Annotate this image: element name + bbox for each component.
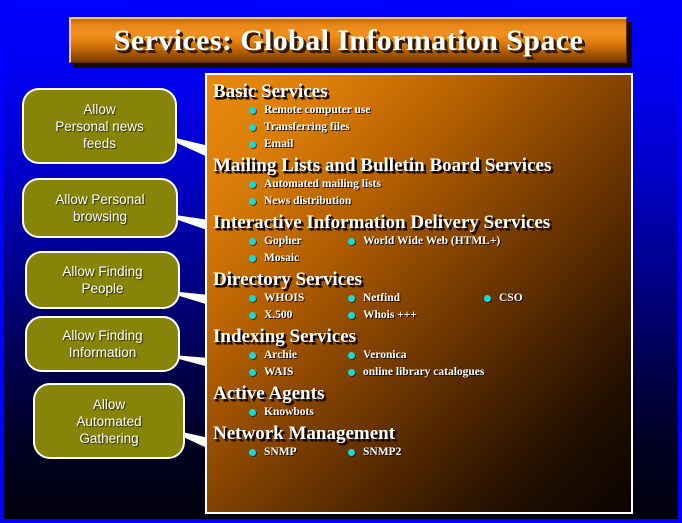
callout-label: Allow Finding People [56, 263, 148, 297]
bullet-dot-icon [348, 238, 355, 245]
bullet-label: X.500 [264, 309, 292, 322]
bullet-item: SNMP2 [348, 446, 401, 459]
bullet-label: World Wide Web (HTML+) [363, 235, 500, 248]
callout-allow-finding-people[interactable]: Allow Finding People [25, 251, 180, 309]
bullet-item: Veronica [348, 349, 406, 362]
bullet-item: Automated mailing lists [249, 178, 381, 191]
bullet-row: Email [207, 138, 631, 155]
bullet-row: Archie Veronica [207, 349, 631, 366]
bullet-item: CSO [484, 292, 523, 305]
bullet-item: Transferring files [249, 121, 350, 134]
bullet-dot-icon [249, 312, 256, 319]
section-directory-services: Directory Services WHOIS Netfind CSO [207, 269, 631, 326]
bullet-dot-icon [249, 107, 256, 114]
bullet-row: Automated mailing lists [207, 178, 631, 195]
bullet-label: Whois +++ [363, 309, 417, 322]
section-heading: Interactive Information Delivery Service… [213, 212, 631, 234]
bullet-dot-icon [249, 295, 256, 302]
bullet-label: Mosaic [264, 252, 299, 265]
callout-allow-finding-information[interactable]: Allow Finding Information [25, 316, 180, 372]
title-bar: Services: Global Information Space [69, 17, 627, 63]
section-basic-services: Basic Services Remote computer use Trans… [207, 81, 631, 155]
bullet-row: Transferring files [207, 121, 631, 138]
bullet-row: News distribution [207, 195, 631, 212]
bullet-row: Gopher World Wide Web (HTML+) [207, 235, 631, 252]
bullet-label: Automated mailing lists [264, 178, 381, 191]
bullet-row: WHOIS Netfind CSO [207, 292, 631, 309]
bullet-label: WAIS [264, 366, 293, 379]
section-heading: Directory Services [213, 269, 631, 291]
bullet-item: Gopher [249, 235, 302, 248]
bullet-row: Knowbots [207, 406, 631, 423]
bullet-row: WAIS online library catalogues [207, 366, 631, 383]
bullet-item: WAIS [249, 366, 293, 379]
bullet-row: X.500 Whois +++ [207, 309, 631, 326]
bullet-item: WHOIS [249, 292, 304, 305]
bullet-item: Email [249, 138, 293, 151]
bullet-item: World Wide Web (HTML+) [348, 235, 500, 248]
section-interactive-information-delivery: Interactive Information Delivery Service… [207, 212, 631, 269]
bullet-item: Mosaic [249, 252, 299, 265]
callout-allow-personal-news-feeds[interactable]: Allow Personal news feeds [22, 88, 177, 164]
callout-allow-automated-gathering[interactable]: Allow Automated Gathering [33, 383, 185, 459]
bullet-label: News distribution [264, 195, 351, 208]
bullet-item: Whois +++ [348, 309, 417, 322]
section-active-agents: Active Agents Knowbots [207, 383, 631, 423]
bullet-dot-icon [249, 238, 256, 245]
bullet-row: SNMP SNMP2 [207, 446, 631, 463]
bullet-row: Mosaic [207, 252, 631, 269]
bullet-label: Remote computer use [264, 104, 370, 117]
section-network-management: Network Management SNMP SNMP2 [207, 423, 631, 463]
bullet-item: online library catalogues [348, 366, 484, 379]
bullet-item: X.500 [249, 309, 292, 322]
bullet-item: Knowbots [249, 406, 314, 419]
section-mailing-lists: Mailing Lists and Bulletin Board Service… [207, 155, 631, 212]
section-heading: Mailing Lists and Bulletin Board Service… [213, 155, 631, 177]
bullet-dot-icon [249, 409, 256, 416]
callout-label: Allow Finding Information [56, 327, 148, 361]
bullet-dot-icon [249, 141, 256, 148]
bullet-label: Netfind [363, 292, 400, 305]
bullet-dot-icon [249, 181, 256, 188]
bullet-label: Transferring files [264, 121, 350, 134]
bullet-dot-icon [249, 449, 256, 456]
bullet-dot-icon [484, 295, 491, 302]
section-heading: Indexing Services [213, 326, 631, 348]
callout-allow-personal-browsing[interactable]: Allow Personal browsing [22, 178, 178, 238]
bullet-dot-icon [249, 124, 256, 131]
bullet-item: News distribution [249, 195, 351, 208]
section-heading: Basic Services [213, 81, 631, 103]
bullet-label: WHOIS [264, 292, 304, 305]
callout-label: Allow Personal news feeds [49, 101, 150, 152]
bullet-dot-icon [249, 198, 256, 205]
bullet-dot-icon [348, 312, 355, 319]
section-heading: Network Management [213, 423, 631, 445]
services-content-panel: Basic Services Remote computer use Trans… [205, 73, 633, 514]
bullet-label: SNMP2 [363, 446, 401, 459]
bullet-label: Archie [264, 349, 297, 362]
bullet-label: SNMP [264, 446, 297, 459]
section-heading: Active Agents [213, 383, 631, 405]
bullet-label: Knowbots [264, 406, 314, 419]
bullet-item: Remote computer use [249, 104, 370, 117]
bullet-label: Gopher [264, 235, 302, 248]
bullet-dot-icon [348, 352, 355, 359]
bullet-dot-icon [249, 255, 256, 262]
callout-label: Allow Personal browsing [49, 191, 150, 225]
section-indexing-services: Indexing Services Archie Veronica WAIS [207, 326, 631, 383]
bullet-item: SNMP [249, 446, 297, 459]
bullet-row: Remote computer use [207, 104, 631, 121]
bullet-dot-icon [348, 449, 355, 456]
bullet-label: Email [264, 138, 293, 151]
bullet-label: online library catalogues [363, 366, 484, 379]
bullet-item: Netfind [348, 292, 400, 305]
slide-canvas: Services: Global Information Space Allow… [0, 0, 682, 523]
bullet-label: Veronica [363, 349, 406, 362]
page-title: Services: Global Information Space [114, 24, 583, 58]
bullet-dot-icon [249, 352, 256, 359]
bullet-dot-icon [348, 295, 355, 302]
callout-label: Allow Automated Gathering [70, 396, 147, 447]
bullet-dot-icon [249, 369, 256, 376]
bullet-item: Archie [249, 349, 297, 362]
bullet-dot-icon [348, 369, 355, 376]
bullet-label: CSO [499, 292, 523, 305]
